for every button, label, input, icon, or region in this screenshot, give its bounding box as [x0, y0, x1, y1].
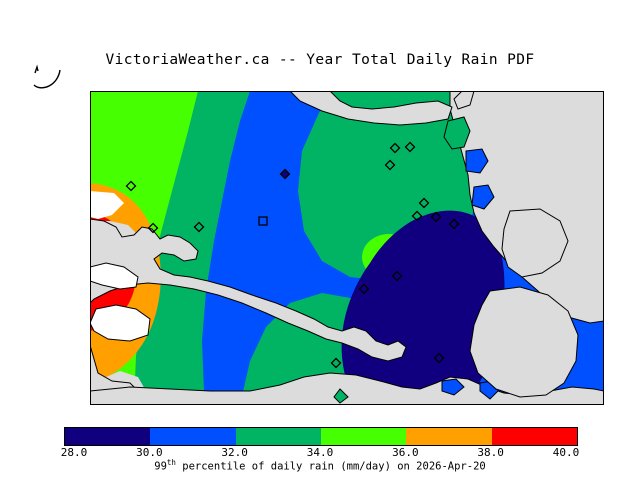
caption-rest: percentile of daily rain (mm/day) on 202… — [176, 461, 486, 473]
screenshot-root: VictoriaWeather.ca -- Year Total Daily R… — [0, 0, 640, 480]
colorbar-band-34-36 — [321, 428, 406, 445]
caption-prefix: 99 — [154, 461, 167, 473]
colorbar-band-36-38 — [406, 428, 491, 445]
colorbar-band-38-40 — [492, 428, 577, 445]
colorbar-band-32-34 — [236, 428, 321, 445]
colorbar[interactable] — [64, 427, 578, 446]
rainfall-contour-map — [90, 91, 604, 405]
caption-superscript: th — [167, 458, 176, 467]
colorbar-caption: 99th percentile of daily rain (mm/day) o… — [0, 458, 640, 473]
colorbar-band-30-32 — [150, 428, 235, 445]
colorbar-band-28-30 — [65, 428, 150, 445]
